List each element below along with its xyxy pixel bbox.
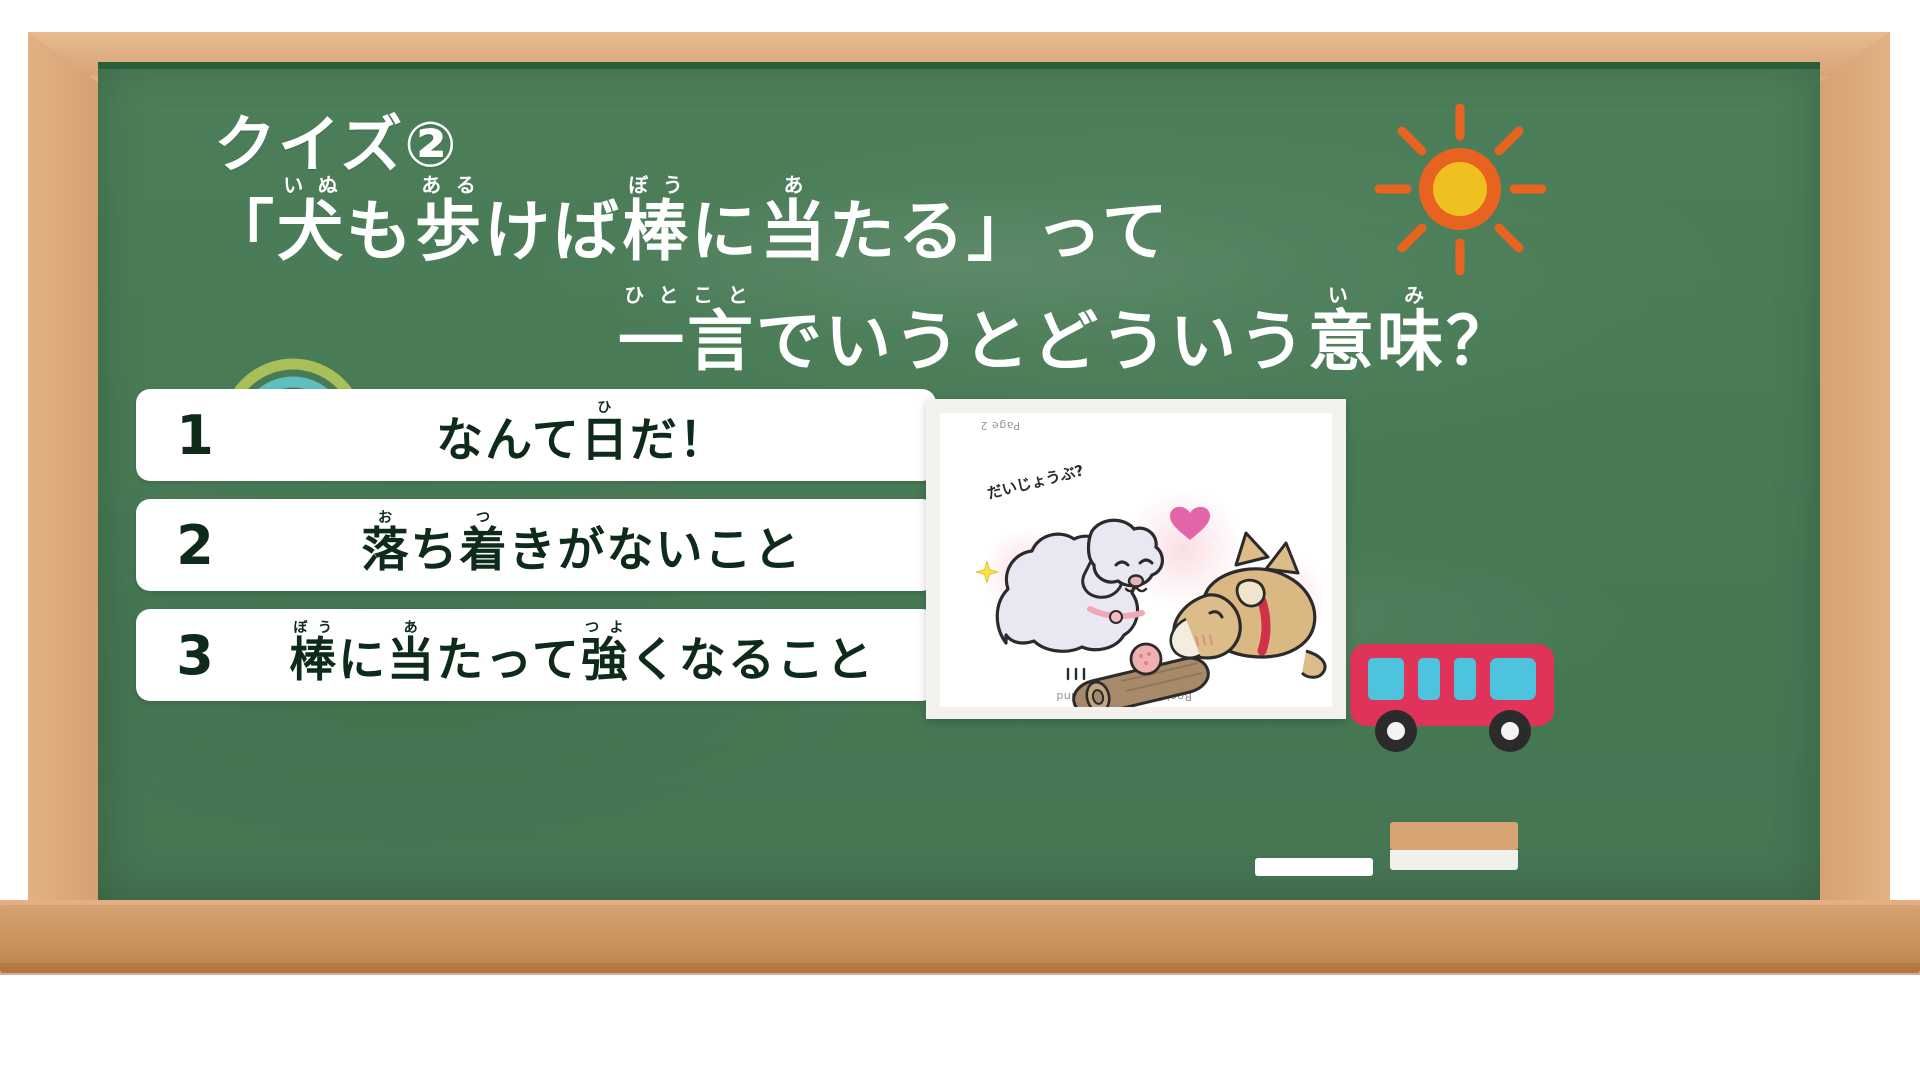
bus-icon bbox=[1338, 634, 1568, 769]
slide-canvas: クイズ② 「犬いぬも歩あるけば棒ぼうに当あたる」って 一言ひとことでいうとどうい… bbox=[0, 0, 1920, 1080]
answer-number: 2 bbox=[136, 514, 254, 577]
answer-option-3[interactable]: 3 棒ぼうに当あたって強つよくなること bbox=[136, 609, 936, 701]
answer-list: 1 なんて日ひだ！ 2 落おち着つきがないこと 3 棒ぼうに当あたって強つよくな… bbox=[136, 389, 936, 719]
dogs-scene bbox=[940, 413, 1332, 707]
sun-icon bbox=[1373, 102, 1548, 277]
illustration-paper: Page 2 Bookbinding joint band だいじょうぶ? bbox=[940, 413, 1332, 707]
question-line-1-text: 「犬いぬも歩あるけば棒ぼうに当あたる」って bbox=[208, 193, 1171, 270]
frame-left-bevel bbox=[28, 32, 106, 970]
quiz-title: クイズ② bbox=[214, 94, 459, 184]
chalk-ledge-shadow bbox=[0, 963, 1920, 975]
frame-right-bevel bbox=[1812, 32, 1890, 970]
board-top-edge bbox=[98, 62, 1820, 69]
answer-label: 落おち着つきがないこと bbox=[254, 510, 936, 580]
dog-illustration-card: Page 2 Bookbinding joint band だいじょうぶ? bbox=[926, 399, 1346, 719]
question-line-2-text: 一言ひとことでいうとどういう意味いみ？ bbox=[618, 303, 1515, 380]
answer-number: 3 bbox=[136, 624, 254, 687]
chalkboard-surface: クイズ② 「犬いぬも歩あるけば棒ぼうに当あたる」って 一言ひとことでいうとどうい… bbox=[98, 62, 1820, 902]
answer-label: なんて日ひだ！ bbox=[254, 400, 936, 470]
chalk-stick-icon bbox=[1255, 858, 1373, 876]
eraser-felt bbox=[1390, 850, 1518, 870]
answer-option-2[interactable]: 2 落おち着つきがないこと bbox=[136, 499, 936, 591]
question-line-2: 一言ひとことでいうとどういう意味いみ？ bbox=[618, 284, 1515, 384]
question-line-1: 「犬いぬも歩あるけば棒ぼうに当あたる」って bbox=[208, 174, 1171, 274]
answer-number: 1 bbox=[136, 404, 254, 467]
answer-label: 棒ぼうに当あたって強つよくなること bbox=[254, 620, 936, 690]
answer-option-1[interactable]: 1 なんて日ひだ！ bbox=[136, 389, 936, 481]
eraser-icon bbox=[1390, 822, 1518, 850]
tan-dog bbox=[1171, 533, 1325, 677]
